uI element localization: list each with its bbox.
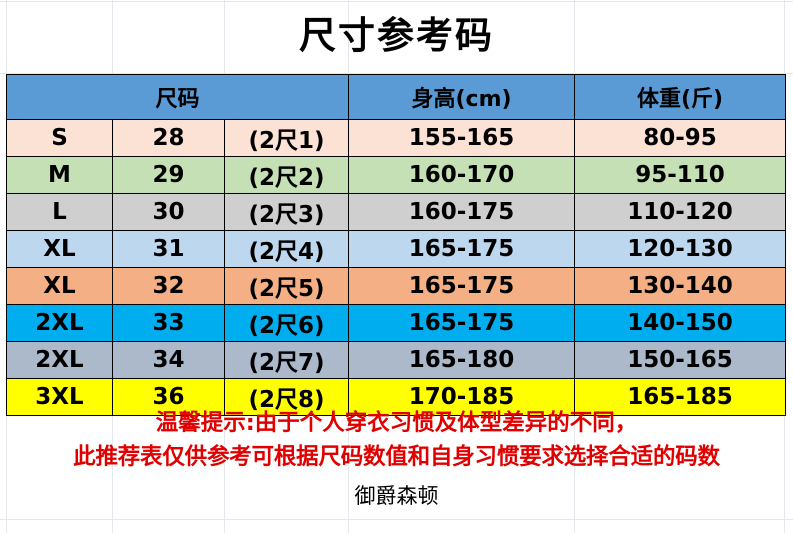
- page-title: 尺寸参考码: [0, 13, 793, 59]
- chinese-measure-cell: (2尺4): [225, 231, 349, 268]
- table-row: S28(2尺1)155-16580-95: [7, 120, 786, 157]
- size-reference-table: 尺码 身高(cm) 体重(斤) S28(2尺1)155-16580-95M29(…: [6, 74, 786, 416]
- height-cell: 165-175: [349, 268, 575, 305]
- chinese-measure-cell: (2尺1): [225, 120, 349, 157]
- chinese-measure-cell: (2尺5): [225, 268, 349, 305]
- chinese-measure-cell: (2尺6): [225, 305, 349, 342]
- weight-cell: 140-150: [575, 305, 786, 342]
- number-cell: 32: [113, 268, 225, 305]
- table-row: XL31(2尺4)165-175120-130: [7, 231, 786, 268]
- table-row: XL32(2尺5)165-175130-140: [7, 268, 786, 305]
- table-header-row: 尺码 身高(cm) 体重(斤): [7, 75, 786, 120]
- chinese-measure-cell: (2尺7): [225, 342, 349, 379]
- size-cell: 2XL: [7, 305, 113, 342]
- number-cell: 34: [113, 342, 225, 379]
- chinese-measure-cell: (2尺3): [225, 194, 349, 231]
- footer-warning-line-2: 此推荐表仅供参考可根据尺码数值和自身习惯要求选择合适的码数: [0, 440, 793, 474]
- height-cell: 165-180: [349, 342, 575, 379]
- table-row: 2XL34(2尺7)165-180150-165: [7, 342, 786, 379]
- weight-cell: 150-165: [575, 342, 786, 379]
- size-cell: 2XL: [7, 342, 113, 379]
- height-cell: 160-170: [349, 157, 575, 194]
- size-cell: XL: [7, 231, 113, 268]
- size-cell: XL: [7, 268, 113, 305]
- height-cell: 165-175: [349, 305, 575, 342]
- weight-cell: 80-95: [575, 120, 786, 157]
- weight-cell: 110-120: [575, 194, 786, 231]
- size-chart-page: 尺寸参考码 尺码 身高(cm) 体重(斤) S28(2尺1)155-16580-…: [0, 0, 793, 533]
- size-cell: L: [7, 194, 113, 231]
- size-cell: S: [7, 120, 113, 157]
- number-cell: 33: [113, 305, 225, 342]
- weight-cell: 95-110: [575, 157, 786, 194]
- number-cell: 30: [113, 194, 225, 231]
- table-row: L30(2尺3)160-175110-120: [7, 194, 786, 231]
- number-cell: 28: [113, 120, 225, 157]
- footer-warning-line-1: 温馨提示:由于个人穿衣习惯及体型差异的不同，: [0, 406, 793, 440]
- height-cell: 155-165: [349, 120, 575, 157]
- number-cell: 29: [113, 157, 225, 194]
- chinese-measure-cell: (2尺2): [225, 157, 349, 194]
- height-cell: 160-175: [349, 194, 575, 231]
- weight-cell: 130-140: [575, 268, 786, 305]
- number-cell: 31: [113, 231, 225, 268]
- table-row: 2XL33(2尺6)165-175140-150: [7, 305, 786, 342]
- height-cell: 165-175: [349, 231, 575, 268]
- column-header-weight: 体重(斤): [575, 75, 786, 120]
- column-header-height: 身高(cm): [349, 75, 575, 120]
- weight-cell: 120-130: [575, 231, 786, 268]
- brand-name: 御爵森顿: [0, 476, 793, 516]
- column-header-size: 尺码: [7, 75, 349, 120]
- size-cell: M: [7, 157, 113, 194]
- footer-notes: 温馨提示:由于个人穿衣习惯及体型差异的不同， 此推荐表仅供参考可根据尺码数值和自…: [0, 406, 793, 516]
- table-row: M29(2尺2)160-17095-110: [7, 157, 786, 194]
